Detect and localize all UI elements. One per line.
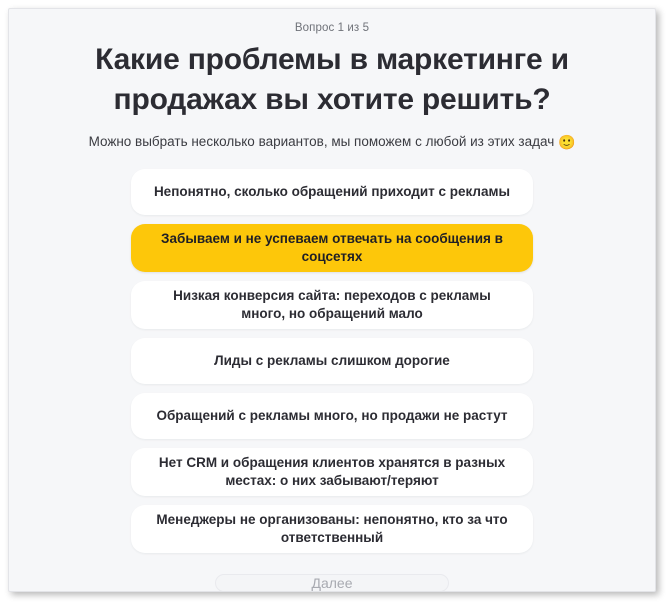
option-item[interactable]: Непонятно, сколько обращений приходит с … [131, 169, 533, 215]
options-list: Непонятно, сколько обращений приходит с … [131, 169, 533, 553]
question-subtitle-text: Можно выбрать несколько вариантов, мы по… [89, 134, 555, 149]
smiley-face-icon: 🙂 [558, 134, 575, 150]
option-item[interactable]: Обращений с рекламы много, но продажи не… [131, 393, 533, 439]
option-item[interactable]: Лиды с рекламы слишком дорогие [131, 338, 533, 384]
quiz-card: Вопрос 1 из 5 Какие проблемы в маркетинг… [8, 8, 656, 592]
question-counter: Вопрос 1 из 5 [295, 21, 369, 35]
option-item[interactable]: Нет CRM и обращения клиентов хранятся в … [131, 448, 533, 496]
option-item[interactable]: Менеджеры не организованы: непонятно, кт… [131, 505, 533, 553]
question-subtitle: Можно выбрать несколько вариантов, мы по… [32, 133, 632, 151]
question-title: Какие проблемы в маркетинге и продажах в… [52, 40, 612, 120]
next-button[interactable]: Далее [215, 574, 449, 592]
option-item[interactable]: Низкая конверсия сайта: переходов с рекл… [131, 281, 533, 329]
option-item[interactable]: Забываем и не успеваем отвечать на сообщ… [131, 224, 533, 272]
